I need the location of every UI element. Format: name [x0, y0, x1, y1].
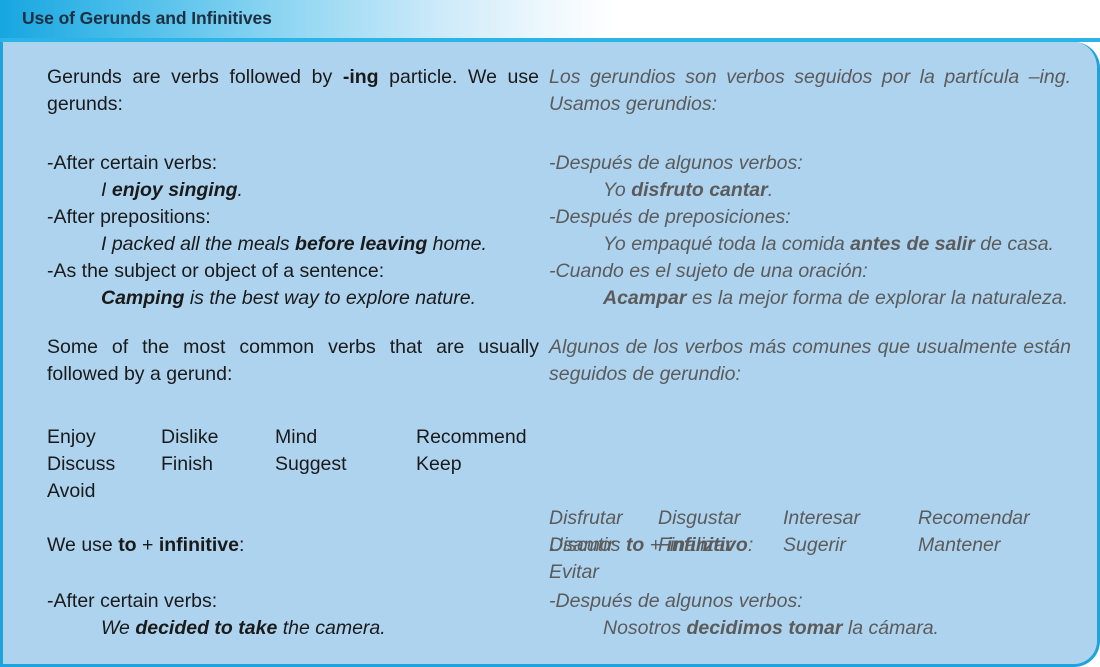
verb-item: Discuss — [47, 451, 161, 478]
verb-row: Avoid — [47, 478, 539, 505]
infinitive-intro-spanish-text: Usamos to + infinitivo: — [549, 532, 1071, 559]
intro-en-bold: -ing — [343, 66, 379, 88]
example-post: . — [238, 179, 243, 201]
rule-example: Nosotros decidimos tomar la cámara. — [549, 615, 1071, 642]
gerund-rules-english: -After certain verbs: I enjoy singing. -… — [47, 150, 539, 312]
verbs-intro-spanish: Algunos de los verbos más comunes que us… — [549, 334, 1071, 388]
verb-item: Enjoy — [47, 424, 161, 451]
verbs-intro-english: Some of the most common verbs that are u… — [47, 334, 539, 388]
rule-example: Yo empaqué toda la comida antes de salir… — [549, 231, 1071, 258]
header-bar: Use of Gerunds and Infinitives — [0, 0, 1100, 38]
inf-en-bold2: infinitive — [159, 534, 239, 556]
verbs-intro-english-text: Some of the most common verbs that are u… — [47, 334, 539, 388]
example-bold: decidimos tomar — [686, 617, 842, 639]
verb-item: Keep — [416, 451, 536, 478]
intro-english-text: Gerunds are verbs followed by -ing parti… — [47, 64, 539, 118]
example-post: home. — [427, 233, 487, 255]
rule-example: Yo disfruto cantar. — [549, 177, 1071, 204]
inf-en-part1: We use — [47, 534, 118, 556]
rule-example: I packed all the meals before leaving ho… — [47, 231, 539, 258]
rule-example: Acampar es la mejor forma de explorar la… — [549, 285, 1071, 312]
rule-example: I enjoy singing. — [47, 177, 539, 204]
rule-label: -Después de algunos verbos: — [549, 588, 1071, 615]
example-bold: disfruto cantar — [631, 179, 768, 201]
inf-en-part2: + — [137, 534, 159, 556]
verb-row: DisfrutarDisgustarInteresarRecomendar — [549, 505, 1071, 532]
infinitive-intro-english-text: We use to + infinitive: — [47, 532, 539, 559]
verbs-intro-spanish-text: Algunos de los verbos más comunes que us… — [549, 334, 1071, 388]
example-pre: I — [101, 179, 112, 201]
rule-label: -Cuando es el sujeto de una oración: — [549, 258, 1071, 285]
intro-english: Gerunds are verbs followed by -ing parti… — [47, 64, 539, 118]
example-post: is the best way to explore nature. — [184, 287, 476, 309]
inf-es-bold2: infinitivo — [667, 534, 748, 556]
inf-es-part3: : — [748, 534, 753, 556]
verb-grid-row: EnjoyDislikeMindRecommend DiscussFinishS… — [3, 424, 1100, 586]
verb-row: Evitar — [549, 559, 1071, 586]
infinitive-rules-spanish: -Después de algunos verbos: Nosotros dec… — [549, 588, 1071, 642]
example-pre: Yo empaqué toda la comida — [603, 233, 850, 255]
verb-item: Finish — [161, 451, 275, 478]
verb-item: Disgustar — [658, 505, 783, 532]
example-pre: Nosotros — [603, 617, 686, 639]
example-pre: We — [101, 617, 135, 639]
inf-en-bold1: to — [118, 534, 136, 556]
verb-item: Recomendar — [918, 505, 1058, 532]
inf-en-part3: : — [239, 534, 244, 556]
page-title: Use of Gerunds and Infinitives — [22, 8, 272, 29]
example-post: la cámara. — [843, 617, 939, 639]
content-panel: Gerunds are verbs followed by -ing parti… — [0, 42, 1100, 667]
verb-item: Avoid — [47, 478, 161, 505]
rule-label: -As the subject or object of a sentence: — [47, 258, 539, 285]
inf-es-part1: Usamos — [549, 534, 626, 556]
rule-label: -Después de preposiciones: — [549, 204, 1071, 231]
example-bold: Acampar — [603, 287, 686, 309]
verb-item: Recommend — [416, 424, 536, 451]
infinitive-intro-english: We use to + infinitive: — [47, 532, 539, 559]
lesson-sheet: Use of Gerunds and Infinitives Gerunds a… — [0, 0, 1100, 657]
example-pre: I packed all the meals — [101, 233, 295, 255]
intro-spanish: Los gerundios son verbos seguidos por la… — [549, 64, 1071, 118]
intro-spanish-text: Los gerundios son verbos seguidos por la… — [549, 64, 1071, 118]
verb-row: EnjoyDislikeMindRecommend — [47, 424, 539, 451]
verb-row: DiscussFinishSuggestKeep — [47, 451, 539, 478]
example-bold: enjoy singing — [112, 179, 238, 201]
example-bold: antes de salir — [850, 233, 975, 255]
intro-en-part1: Gerunds are verbs followed by — [47, 66, 343, 88]
verb-item: Disfrutar — [549, 505, 658, 532]
example-bold: before leaving — [295, 233, 427, 255]
example-pre: Yo — [603, 179, 631, 201]
example-bold: decided to take — [135, 617, 277, 639]
example-post: es la mejor forma de explorar la natural… — [686, 287, 1068, 309]
inf-es-part2: + — [644, 534, 666, 556]
example-post: de casa. — [975, 233, 1054, 255]
rule-example: Camping is the best way to explore natur… — [47, 285, 539, 312]
verb-grid-english: EnjoyDislikeMindRecommend DiscussFinishS… — [47, 424, 539, 505]
example-post: the camera. — [277, 617, 385, 639]
inf-es-bold1: to — [626, 534, 644, 556]
verb-item: Mind — [275, 424, 416, 451]
verb-item: Evitar — [549, 559, 658, 586]
rule-label: -After certain verbs: — [47, 150, 539, 177]
example-bold: Camping — [101, 287, 184, 309]
verb-item: Interesar — [783, 505, 918, 532]
verb-item: Suggest — [275, 451, 416, 478]
infinitive-rules-english: -After certain verbs: We decided to take… — [47, 588, 539, 642]
rule-label: -After prepositions: — [47, 204, 539, 231]
infinitive-intro-spanish: Usamos to + infinitivo: — [549, 532, 1071, 559]
rule-label: -After certain verbs: — [47, 588, 539, 615]
rule-label: -Después de algunos verbos: — [549, 150, 1071, 177]
example-post: . — [768, 179, 773, 201]
rule-example: We decided to take the camera. — [47, 615, 539, 642]
verb-item: Dislike — [161, 424, 275, 451]
gerund-rules-spanish: -Después de algunos verbos: Yo disfruto … — [549, 150, 1071, 312]
